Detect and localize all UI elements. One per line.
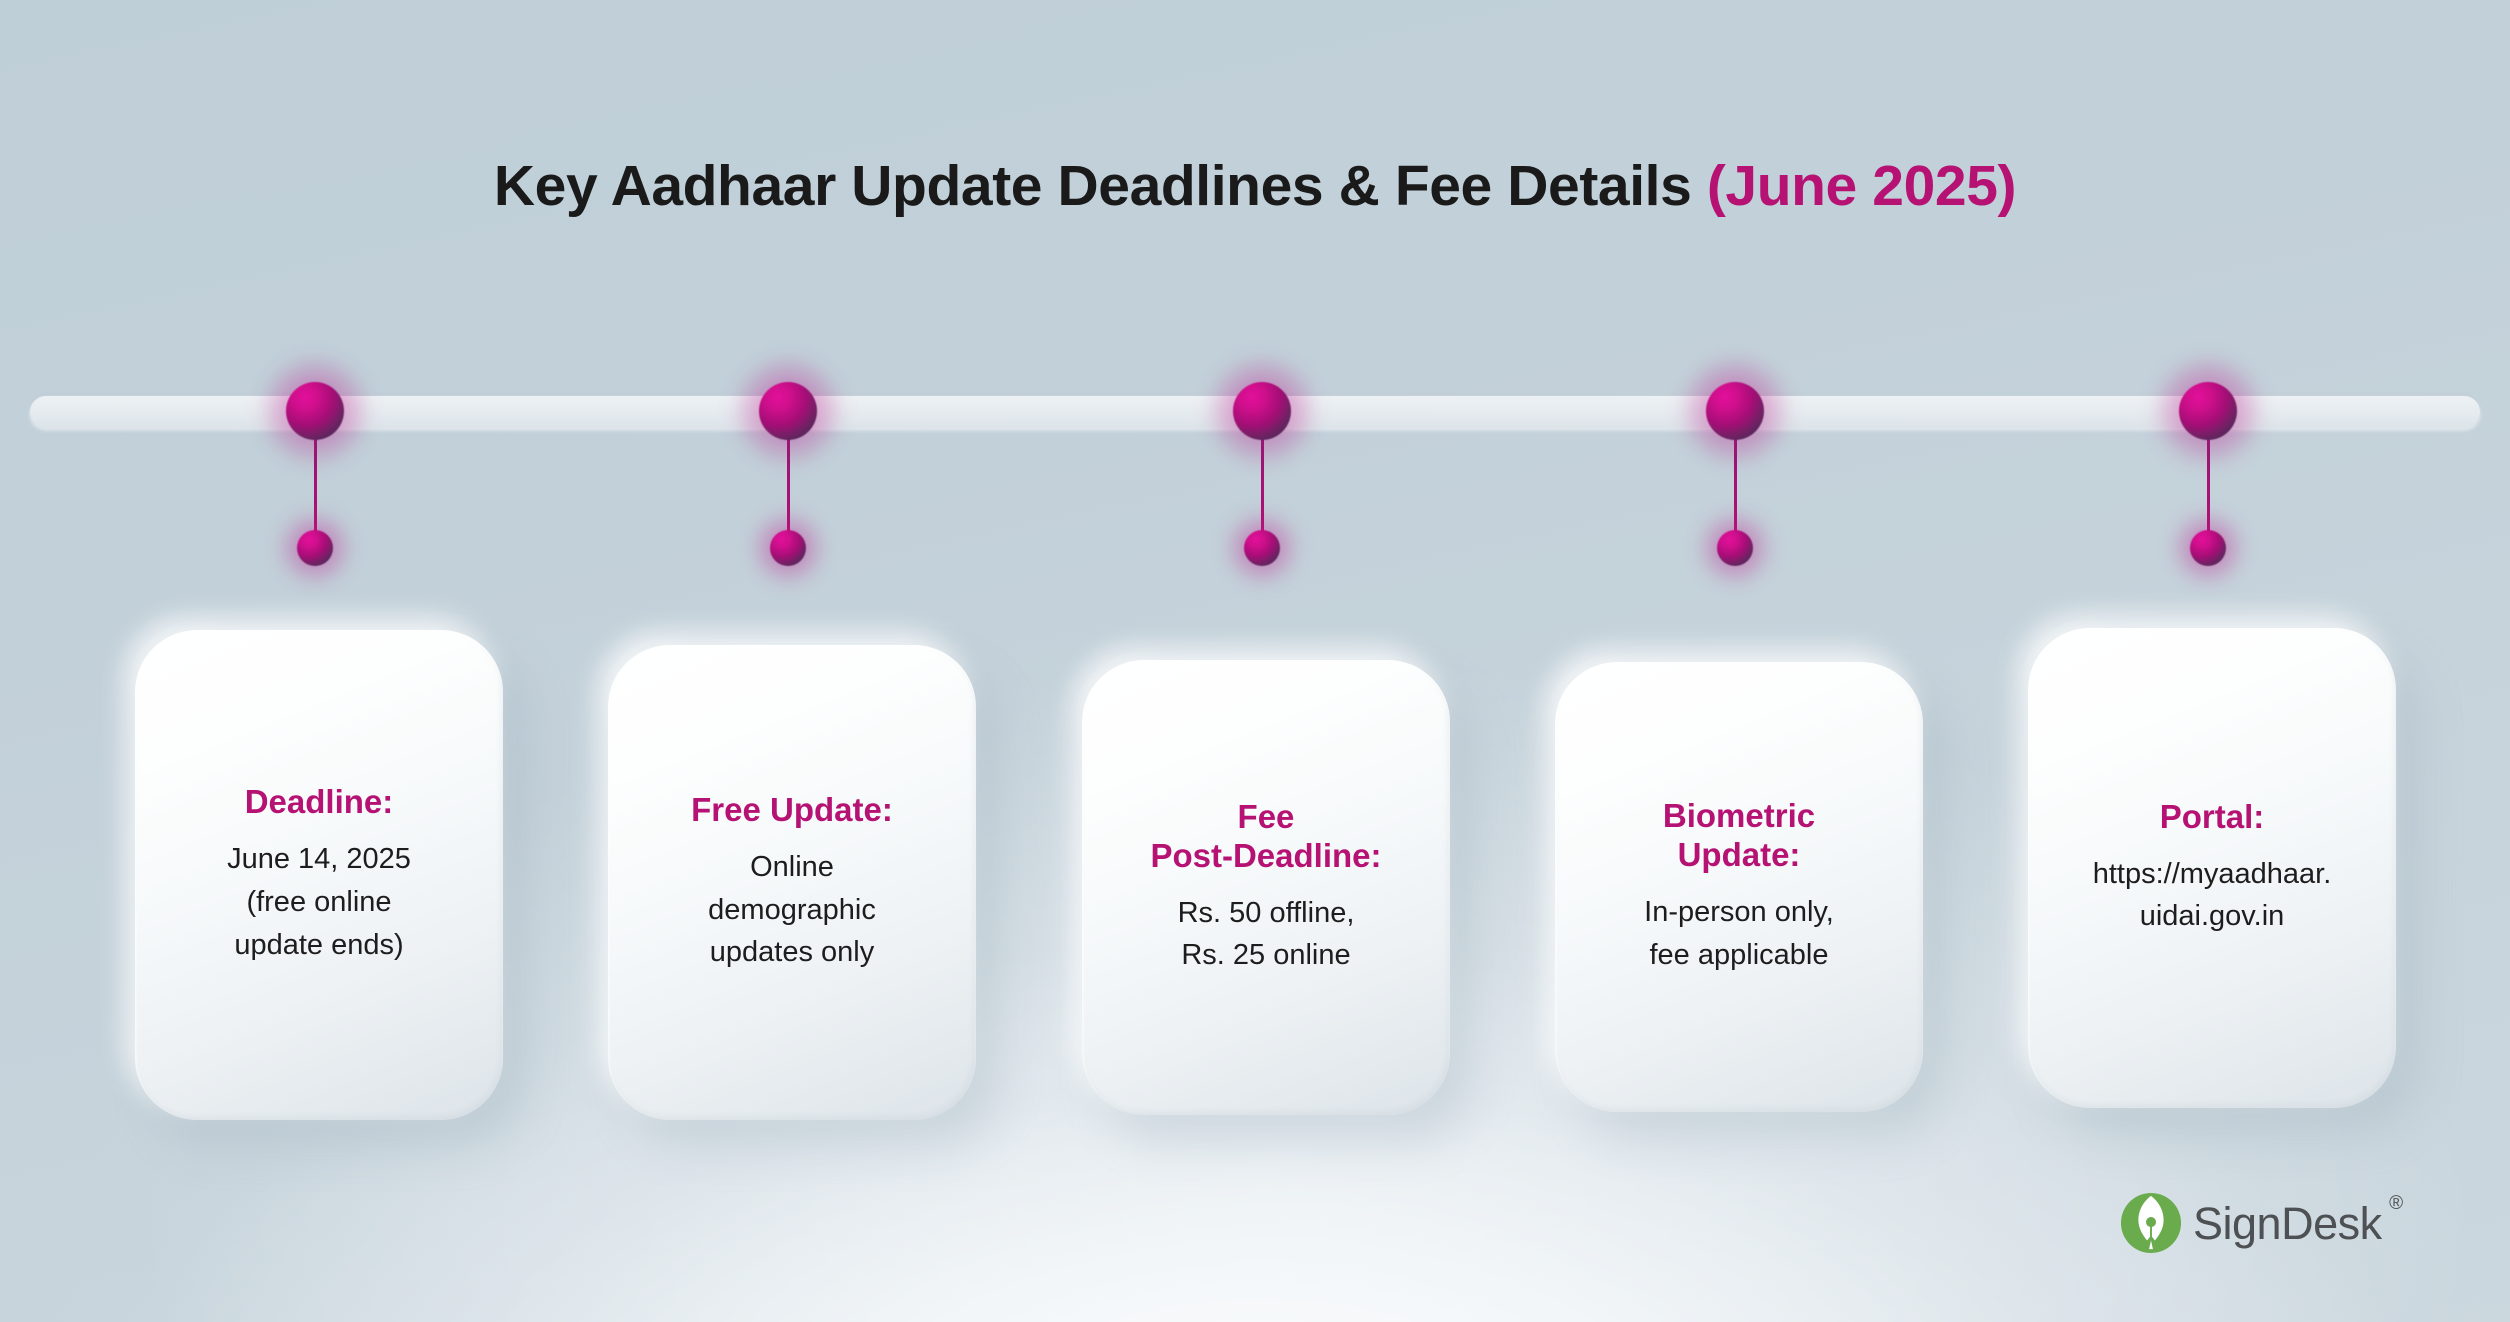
- logo-wordmark: SignDesk®: [2193, 1201, 2382, 1246]
- card-body: Online demographic updates only: [708, 846, 876, 975]
- info-card-5[interactable]: Portal:https://myaadhaar. uidai.gov.in: [2028, 628, 2396, 1108]
- card-body: Rs. 50 offline, Rs. 25 online: [1178, 892, 1355, 978]
- card-heading: Biometric Update:: [1663, 797, 1815, 875]
- card-heading: Deadline:: [245, 783, 394, 822]
- card-body: https://myaadhaar. uidai.gov.in: [2093, 853, 2332, 939]
- marker-dot-small[interactable]: [1717, 530, 1753, 566]
- page-title-accent: (June 2025): [1707, 154, 2016, 218]
- logo-name: SignDesk: [2193, 1198, 2382, 1249]
- card-heading: Free Update:: [691, 791, 893, 830]
- card-heading: Fee Post-Deadline:: [1150, 798, 1381, 876]
- marker-dot-large[interactable]: [1233, 382, 1291, 440]
- info-card-1[interactable]: Deadline:June 14, 2025 (free online upda…: [135, 630, 503, 1120]
- marker-dot-small[interactable]: [1244, 530, 1280, 566]
- marker-dot-large[interactable]: [286, 382, 344, 440]
- marker-dot-small[interactable]: [2190, 530, 2226, 566]
- card-body: June 14, 2025 (free online update ends): [227, 838, 411, 967]
- info-card-2[interactable]: Free Update:Online demographic updates o…: [608, 645, 976, 1120]
- info-card-3[interactable]: Fee Post-Deadline:Rs. 50 offline, Rs. 25…: [1082, 660, 1450, 1115]
- page-title-container: Key Aadhaar Update Deadlines & Fee Detai…: [0, 158, 2510, 215]
- marker-dot-small[interactable]: [297, 530, 333, 566]
- marker-dot-large[interactable]: [759, 382, 817, 440]
- signdesk-logo: SignDesk®: [2120, 1192, 2382, 1254]
- registered-trademark-icon: ®: [2389, 1194, 2403, 1213]
- pen-nib-icon: [2120, 1192, 2182, 1254]
- marker-dot-large[interactable]: [2179, 382, 2237, 440]
- marker-dot-large[interactable]: [1706, 382, 1764, 440]
- card-heading: Portal:: [2160, 798, 2265, 837]
- card-body: In-person only, fee applicable: [1644, 891, 1834, 977]
- page-title: Key Aadhaar Update Deadlines & Fee Detai…: [494, 158, 2016, 215]
- marker-dot-small[interactable]: [770, 530, 806, 566]
- info-card-4[interactable]: Biometric Update:In-person only, fee app…: [1555, 662, 1923, 1112]
- page-title-main: Key Aadhaar Update Deadlines & Fee Detai…: [494, 154, 1707, 218]
